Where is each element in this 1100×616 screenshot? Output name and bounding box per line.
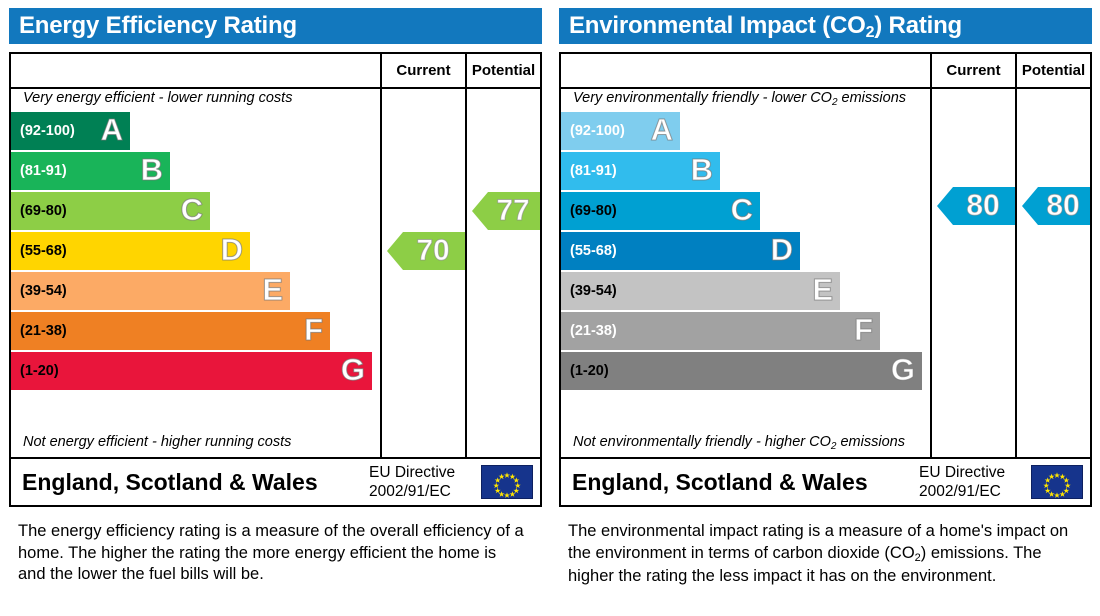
band-range-d: (55-68) bbox=[570, 232, 617, 270]
band-bar-a: (92-100) A bbox=[561, 112, 680, 150]
eu-directive-line1: EU Directive bbox=[369, 463, 479, 482]
band-letter-b: B bbox=[691, 152, 713, 190]
band-letter-e: E bbox=[812, 272, 833, 310]
band-letter-g: G bbox=[341, 352, 365, 390]
energy-efficiency-rating-chart: Energy Efficiency Rating Current Potenti… bbox=[0, 0, 550, 616]
environmental-country-label: England, Scotland & Wales bbox=[572, 459, 868, 505]
eu-directive-line2: 2002/91/EC bbox=[369, 482, 479, 501]
band-letter-e: E bbox=[262, 272, 283, 310]
caption-bottom-suffix: emissions bbox=[836, 434, 905, 450]
header-divider bbox=[561, 87, 1090, 89]
band-bar-e: (39-54) E bbox=[561, 272, 840, 310]
band-range-c: (69-80) bbox=[20, 192, 67, 230]
epc-chart-page: Energy Efficiency Rating Current Potenti… bbox=[0, 0, 1100, 616]
band-range-f: (21-38) bbox=[20, 312, 67, 350]
environmental-potential-rating-arrow: 80 bbox=[1022, 187, 1090, 225]
environmental-chart-title: Environmental Impact (CO2) Rating bbox=[559, 8, 1092, 44]
band-letter-f: F bbox=[304, 312, 323, 350]
band-range-g: (1-20) bbox=[20, 352, 59, 390]
current-column-divider bbox=[930, 54, 932, 457]
band-range-e: (39-54) bbox=[570, 272, 617, 310]
band-range-b: (81-91) bbox=[20, 152, 67, 190]
band-bar-e: (39-54) E bbox=[11, 272, 290, 310]
band-range-f: (21-38) bbox=[570, 312, 617, 350]
environmental-title-subscript: 2 bbox=[866, 24, 875, 41]
band-bar-g: (1-20) G bbox=[561, 352, 922, 390]
environmental-band-bars: (92-100) A (81-91) B (69-80) C (55-68) D… bbox=[561, 112, 928, 432]
band-range-b: (81-91) bbox=[570, 152, 617, 190]
band-letter-d: D bbox=[771, 232, 793, 270]
band-range-g: (1-20) bbox=[570, 352, 609, 390]
header-divider bbox=[11, 87, 540, 89]
band-bar-f: (21-38) F bbox=[561, 312, 880, 350]
caption-top-suffix: emissions bbox=[838, 90, 907, 106]
environmental-chart-frame: Current Potential Very environmentally f… bbox=[559, 52, 1092, 507]
band-bar-b: (81-91) B bbox=[561, 152, 720, 190]
environmental-explanatory-note: The environmental impact rating is a mea… bbox=[568, 521, 1078, 588]
eu-directive-line1: EU Directive bbox=[919, 463, 1029, 482]
band-letter-b: B bbox=[141, 152, 163, 190]
environmental-caption-bottom: Not environmentally friendly - higher CO… bbox=[573, 434, 905, 450]
environmental-footer-band: England, Scotland & Wales EU Directive 2… bbox=[561, 459, 1090, 505]
band-letter-f: F bbox=[854, 312, 873, 350]
energy-footer-band: England, Scotland & Wales EU Directive 2… bbox=[11, 459, 540, 505]
eu-flag-icon bbox=[481, 465, 533, 499]
environmental-title-prefix: Environmental Impact (CO bbox=[569, 12, 866, 39]
band-range-c: (69-80) bbox=[570, 192, 617, 230]
environmental-caption-top: Very environmentally friendly - lower CO… bbox=[573, 90, 906, 106]
eu-directive-line2: 2002/91/EC bbox=[919, 482, 1029, 501]
energy-caption-bottom: Not energy efficient - higher running co… bbox=[23, 434, 291, 450]
energy-country-label: England, Scotland & Wales bbox=[22, 459, 318, 505]
environmental-current-rating-arrow: 80 bbox=[937, 187, 1015, 225]
caption-top-prefix: Very environmentally friendly - lower CO bbox=[573, 90, 832, 106]
energy-explanatory-note: The energy efficiency rating is a measur… bbox=[18, 521, 528, 586]
band-bar-g: (1-20) G bbox=[11, 352, 372, 390]
potential-column-divider bbox=[1015, 54, 1017, 457]
band-letter-a: A bbox=[651, 112, 673, 150]
band-range-a: (92-100) bbox=[20, 112, 75, 150]
environmental-eu-directive: EU Directive 2002/91/EC bbox=[919, 463, 1029, 501]
energy-chart-frame: Current Potential Very energy efficient … bbox=[9, 52, 542, 507]
band-letter-d: D bbox=[221, 232, 243, 270]
band-range-d: (55-68) bbox=[20, 232, 67, 270]
band-letter-c: C bbox=[731, 192, 753, 230]
environmental-current-column-header: Current bbox=[932, 57, 1015, 85]
band-letter-c: C bbox=[181, 192, 203, 230]
caption-bottom-subscript: 2 bbox=[831, 441, 837, 452]
band-bar-c: (69-80) C bbox=[561, 192, 760, 230]
energy-eu-directive: EU Directive 2002/91/EC bbox=[369, 463, 479, 501]
band-letter-g: G bbox=[891, 352, 915, 390]
band-bar-b: (81-91) B bbox=[11, 152, 170, 190]
band-range-a: (92-100) bbox=[570, 112, 625, 150]
band-range-e: (39-54) bbox=[20, 272, 67, 310]
band-bar-d: (55-68) D bbox=[561, 232, 800, 270]
environmental-title-suffix: ) Rating bbox=[874, 12, 962, 39]
energy-band-bars: (92-100) A (81-91) B (69-80) C (55-68) D… bbox=[11, 112, 378, 432]
caption-top-subscript: 2 bbox=[832, 97, 838, 108]
environmental-potential-column-header: Potential bbox=[1017, 57, 1090, 85]
energy-potential-column-header: Potential bbox=[467, 57, 540, 85]
band-letter-a: A bbox=[101, 112, 123, 150]
energy-caption-top: Very energy efficient - lower running co… bbox=[23, 90, 292, 106]
band-bar-f: (21-38) F bbox=[11, 312, 330, 350]
band-bar-d: (55-68) D bbox=[11, 232, 250, 270]
environmental-impact-rating-chart: Environmental Impact (CO2) Rating Curren… bbox=[550, 0, 1100, 616]
caption-bottom-prefix: Not environmentally friendly - higher CO bbox=[573, 434, 831, 450]
energy-current-column-header: Current bbox=[382, 57, 465, 85]
current-column-divider bbox=[380, 54, 382, 457]
band-bar-a: (92-100) A bbox=[11, 112, 130, 150]
energy-chart-title: Energy Efficiency Rating bbox=[9, 8, 542, 44]
energy-potential-rating-arrow: 77 bbox=[472, 192, 540, 230]
eu-flag-icon bbox=[1031, 465, 1083, 499]
energy-current-rating-arrow: 70 bbox=[387, 232, 465, 270]
potential-column-divider bbox=[465, 54, 467, 457]
band-bar-c: (69-80) C bbox=[11, 192, 210, 230]
